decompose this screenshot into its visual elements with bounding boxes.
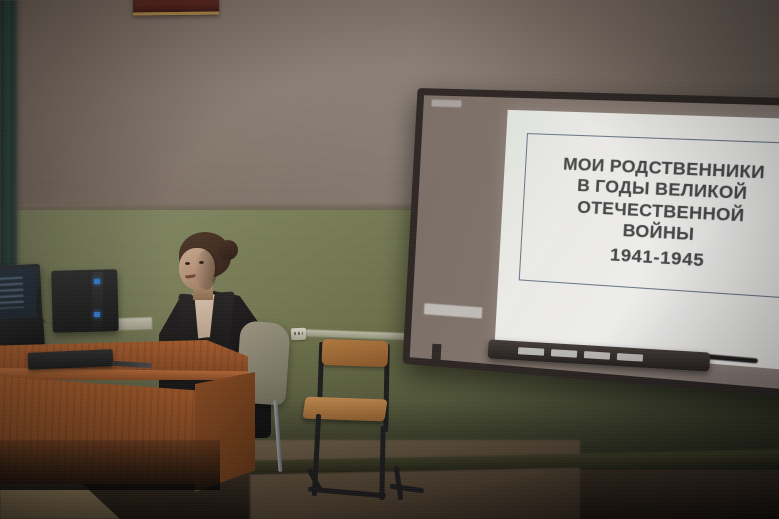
socket-holes	[294, 332, 303, 335]
school-chair	[292, 338, 422, 518]
slide-title-box: МОИ РОДСТВЕННИКИ В ГОДЫ ВЕЛИКОЙ ОТЕЧЕСТВ…	[519, 133, 779, 299]
pc-tower[interactable]	[51, 269, 119, 333]
chair-backrest	[322, 339, 389, 367]
projected-slide: МОИ РОДСТВЕННИКИ В ГОДЫ ВЕЛИКОЙ ОТЕЧЕСТВ…	[495, 110, 779, 372]
marker-slot[interactable]	[518, 347, 544, 356]
chair-frame-bar	[379, 426, 385, 500]
whiteboard-leg	[432, 344, 442, 360]
chair-frame-bar	[390, 484, 424, 494]
marker-slot[interactable]	[617, 353, 643, 362]
chair-frame-bar	[394, 466, 404, 500]
marker-slot[interactable]	[551, 349, 577, 358]
desk-shadow	[0, 440, 220, 490]
eye-left	[185, 262, 190, 265]
marker-slot[interactable]	[584, 351, 610, 360]
eye-right	[199, 261, 204, 264]
framed-picture	[133, 0, 219, 15]
power-led-icon	[94, 279, 100, 284]
classroom-photo: МОИ РОДСТВЕННИКИ В ГОДЫ ВЕЛИКОЙ ОТЕЧЕСТВ…	[0, 0, 779, 519]
face-shading	[195, 250, 217, 290]
activity-led-icon	[94, 312, 100, 317]
hair-bun	[218, 240, 238, 260]
monitor-screen-content	[0, 277, 24, 310]
slide-years: 1941-1945	[609, 245, 704, 272]
board-brand-logo	[431, 99, 461, 107]
board-side-label	[424, 303, 483, 318]
board-side-label-text	[425, 303, 483, 307]
pc-front-panel[interactable]	[92, 272, 103, 330]
slide-line-4: ВОЙНЫ	[622, 221, 695, 245]
